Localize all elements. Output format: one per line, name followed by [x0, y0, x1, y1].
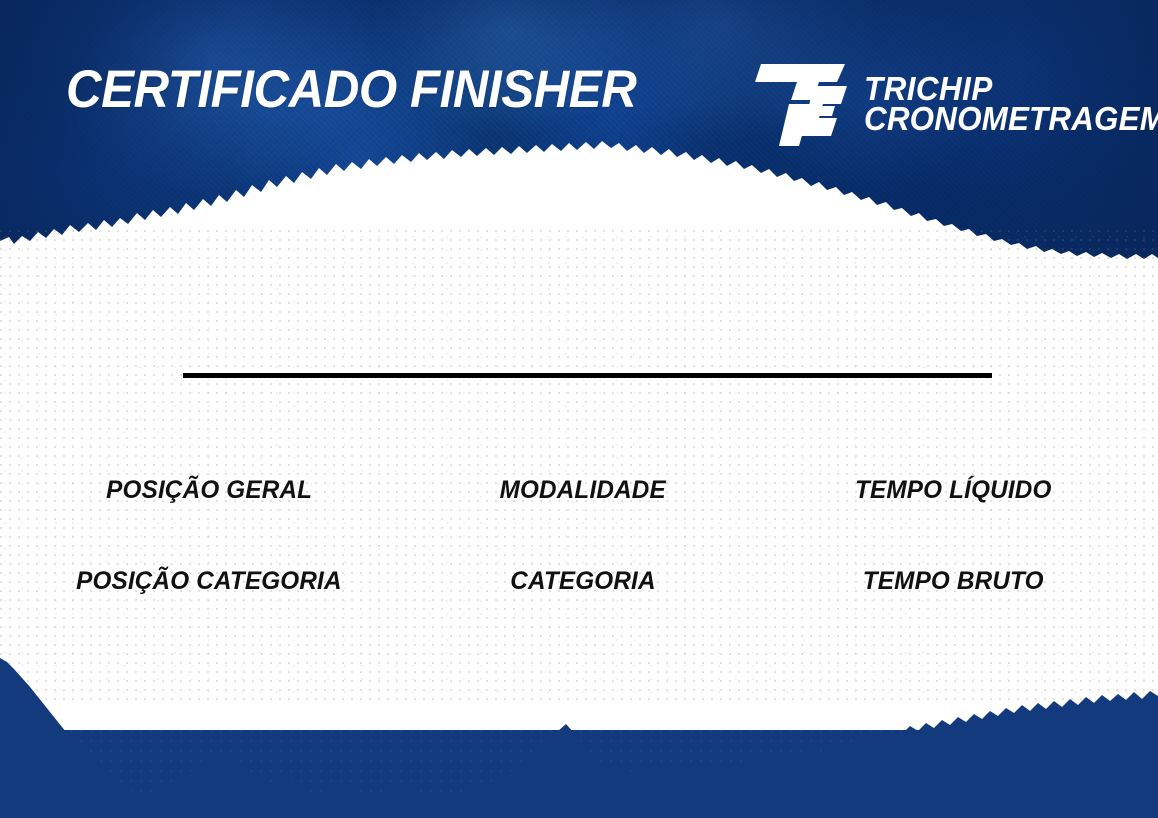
field-cell-modalidade: MODALIDADE [418, 476, 748, 505]
field-row: POSIÇÃO CATEGORIA CATEGORIA TEMPO BRUTO [0, 567, 1158, 596]
fields-grid: POSIÇÃO GERAL MODALIDADE TEMPO LÍQUIDO P… [0, 476, 1158, 596]
field-cell-tempo-liquido: TEMPO LÍQUIDO [748, 476, 1158, 505]
field-label-tempo-liquido: TEMPO LÍQUIDO [855, 476, 1052, 505]
field-label-categoria: CATEGORIA [510, 567, 655, 596]
certificate-page: CERTIFICADO FINISHER TRICHIP CRONOMETRAG… [0, 0, 1158, 818]
field-cell-tempo-bruto: TEMPO BRUTO [748, 567, 1158, 596]
certificate-body: POSIÇÃO GERAL MODALIDADE TEMPO LÍQUIDO P… [0, 230, 1158, 700]
footer-texture [0, 730, 1158, 818]
field-label-tempo-bruto: TEMPO BRUTO [863, 567, 1044, 596]
field-cell-posicao-categoria: POSIÇÃO CATEGORIA [0, 567, 418, 596]
footer-band [0, 730, 1158, 818]
field-label-modalidade: MODALIDADE [500, 476, 666, 505]
field-label-posicao-geral: POSIÇÃO GERAL [106, 476, 312, 505]
trichip-tc-monogram-icon [755, 60, 851, 148]
brand-logo: TRICHIP CRONOMETRAGEM [755, 58, 1100, 150]
paper-halftone-texture [0, 230, 1158, 700]
field-label-posicao-categoria: POSIÇÃO CATEGORIA [76, 567, 342, 596]
field-cell-categoria: CATEGORIA [418, 567, 748, 596]
brand-logo-text: TRICHIP CRONOMETRAGEM [864, 74, 1158, 135]
page-title: CERTIFICADO FINISHER [66, 63, 636, 116]
field-row: POSIÇÃO GERAL MODALIDADE TEMPO LÍQUIDO [0, 476, 1158, 505]
field-cell-posicao-geral: POSIÇÃO GERAL [0, 476, 418, 505]
name-divider-rule [183, 373, 992, 378]
brand-logo-line2: CRONOMETRAGEM [864, 104, 1158, 134]
